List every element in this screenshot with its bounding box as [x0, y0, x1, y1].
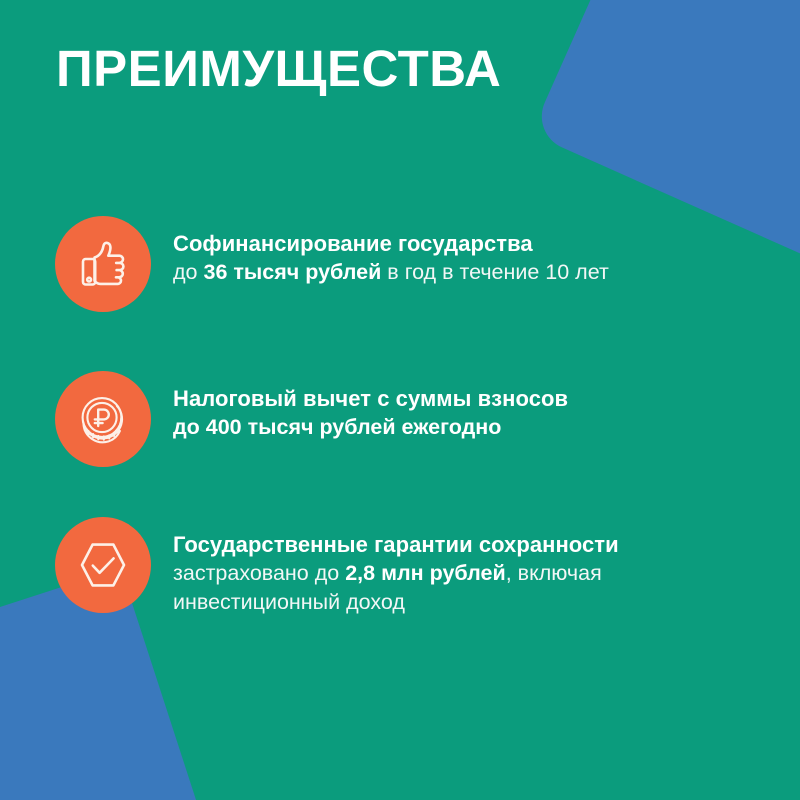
- feature-item-state-guarantee: Государственные гарантии сохранности зас…: [0, 517, 800, 617]
- poster-content: ПРЕИМУЩЕСТВА Софинансирование государств…: [0, 0, 800, 800]
- feature-detail-strong: до 400 тысяч рублей ежегодно: [173, 415, 501, 439]
- feature-icon-badge: [55, 517, 151, 613]
- feature-detail-strong: 36 тысяч рублей: [203, 260, 381, 284]
- feature-detail: застраховано до 2,8 млн рублей, включая: [173, 559, 800, 588]
- feature-detail-prefix: застраховано до: [173, 561, 345, 585]
- feature-item-tax-deduction: Налоговый вычет с суммы взносов до 400 т…: [0, 371, 800, 467]
- poster-canvas: ПРЕИМУЩЕСТВА Софинансирование государств…: [0, 0, 800, 800]
- feature-detail-suffix: , включая: [506, 561, 602, 585]
- page-title: ПРЕИМУЩЕСТВА: [56, 41, 501, 96]
- feature-heading: Государственные гарантии сохранности: [173, 530, 800, 559]
- feature-heading: Налоговый вычет с суммы взносов: [173, 384, 800, 413]
- feature-list: Софинансирование государства до 36 тысяч…: [0, 205, 800, 617]
- feature-icon-badge: [55, 216, 151, 312]
- ruble-coin-icon: [75, 391, 131, 447]
- feature-item-cofinancing: Софинансирование государства до 36 тысяч…: [0, 216, 800, 312]
- feature-detail-strong: 2,8 млн рублей: [345, 561, 505, 585]
- feature-detail: до 36 тысяч рублей в год в течение 10 ле…: [173, 258, 800, 287]
- feature-detail-line2: инвестиционный доход: [173, 588, 800, 617]
- feature-icon-badge: [55, 371, 151, 467]
- feature-detail-suffix: в год в течение 10 лет: [381, 260, 608, 284]
- feature-text-block: Налоговый вычет с суммы взносов до 400 т…: [151, 371, 800, 442]
- feature-text-block: Государственные гарантии сохранности зас…: [151, 517, 800, 617]
- hexagon-check-icon: [74, 536, 132, 594]
- thumbs-up-icon: [74, 235, 132, 293]
- feature-detail: до 400 тысяч рублей ежегодно: [173, 413, 800, 442]
- feature-text-block: Софинансирование государства до 36 тысяч…: [151, 216, 800, 287]
- feature-heading: Софинансирование государства: [173, 229, 800, 258]
- feature-detail-prefix: до: [173, 260, 203, 284]
